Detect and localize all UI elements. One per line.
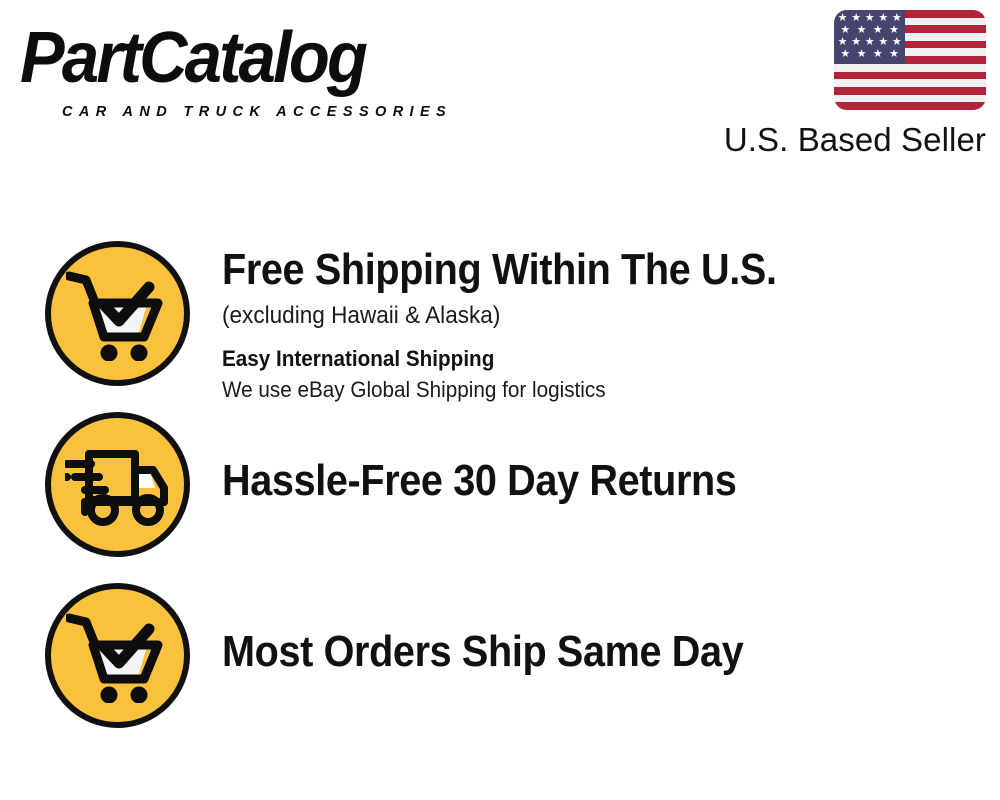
feature-row: Free Shipping Within The U.S. (excluding… <box>0 241 1000 404</box>
page-header: PartCatalog CAR AND TRUCK ACCESSORIES ★★… <box>0 0 1000 180</box>
flag-star-row: ★★★★ <box>834 49 905 60</box>
partcatalog-logo[interactable]: PartCatalog CAR AND TRUCK ACCESSORIES <box>20 22 490 112</box>
feature-title: Hassle-Free 30 Day Returns <box>222 456 922 506</box>
feature-text-block: Free Shipping Within The U.S. (excluding… <box>190 241 1000 404</box>
flag-stripe <box>834 102 986 110</box>
flag-canton: ★★★★★ ★★★★ ★★★★★ ★★★★ <box>834 10 905 64</box>
us-based-seller-label: U.S. Based Seller <box>716 121 986 159</box>
us-flag-icon: ★★★★★ ★★★★ ★★★★★ ★★★★ <box>834 10 986 110</box>
shopping-cart-check-icon <box>45 241 190 386</box>
feature-text-block: Most Orders Ship Same Day <box>190 583 1000 677</box>
feature-secondary-title: Easy International Shipping <box>222 345 953 373</box>
flag-stripe <box>834 72 986 80</box>
shopping-cart-check-icon <box>45 583 190 728</box>
feature-subtitle: (excluding Hawaii & Alaska) <box>222 301 953 331</box>
flag-stripe <box>834 64 986 72</box>
feature-list: Free Shipping Within The U.S. (excluding… <box>0 180 1000 800</box>
us-based-seller-badge: ★★★★★ ★★★★ ★★★★★ ★★★★ U.S. Based Seller <box>716 10 986 159</box>
flag-stripe <box>834 87 986 95</box>
feature-row: Hassle-Free 30 Day Returns <box>0 412 1000 557</box>
flag-stripe <box>834 95 986 103</box>
feature-text-block: Hassle-Free 30 Day Returns <box>190 412 1000 506</box>
brand-wordmark: PartCatalog <box>20 22 365 94</box>
flag-star-row: ★★★★★ <box>834 37 905 48</box>
flag-star-row: ★★★★★ <box>834 13 905 24</box>
feature-row: Most Orders Ship Same Day <box>0 583 1000 728</box>
feature-secondary-subtitle: We use eBay Global Shipping for logistic… <box>222 376 953 404</box>
flag-star-row: ★★★★ <box>834 25 905 36</box>
brand-tagline: CAR AND TRUCK ACCESSORIES <box>62 104 452 120</box>
delivery-truck-icon <box>45 412 190 557</box>
feature-title: Most Orders Ship Same Day <box>222 627 922 677</box>
flag-stripe <box>834 79 986 87</box>
feature-title: Free Shipping Within The U.S. <box>222 245 922 295</box>
